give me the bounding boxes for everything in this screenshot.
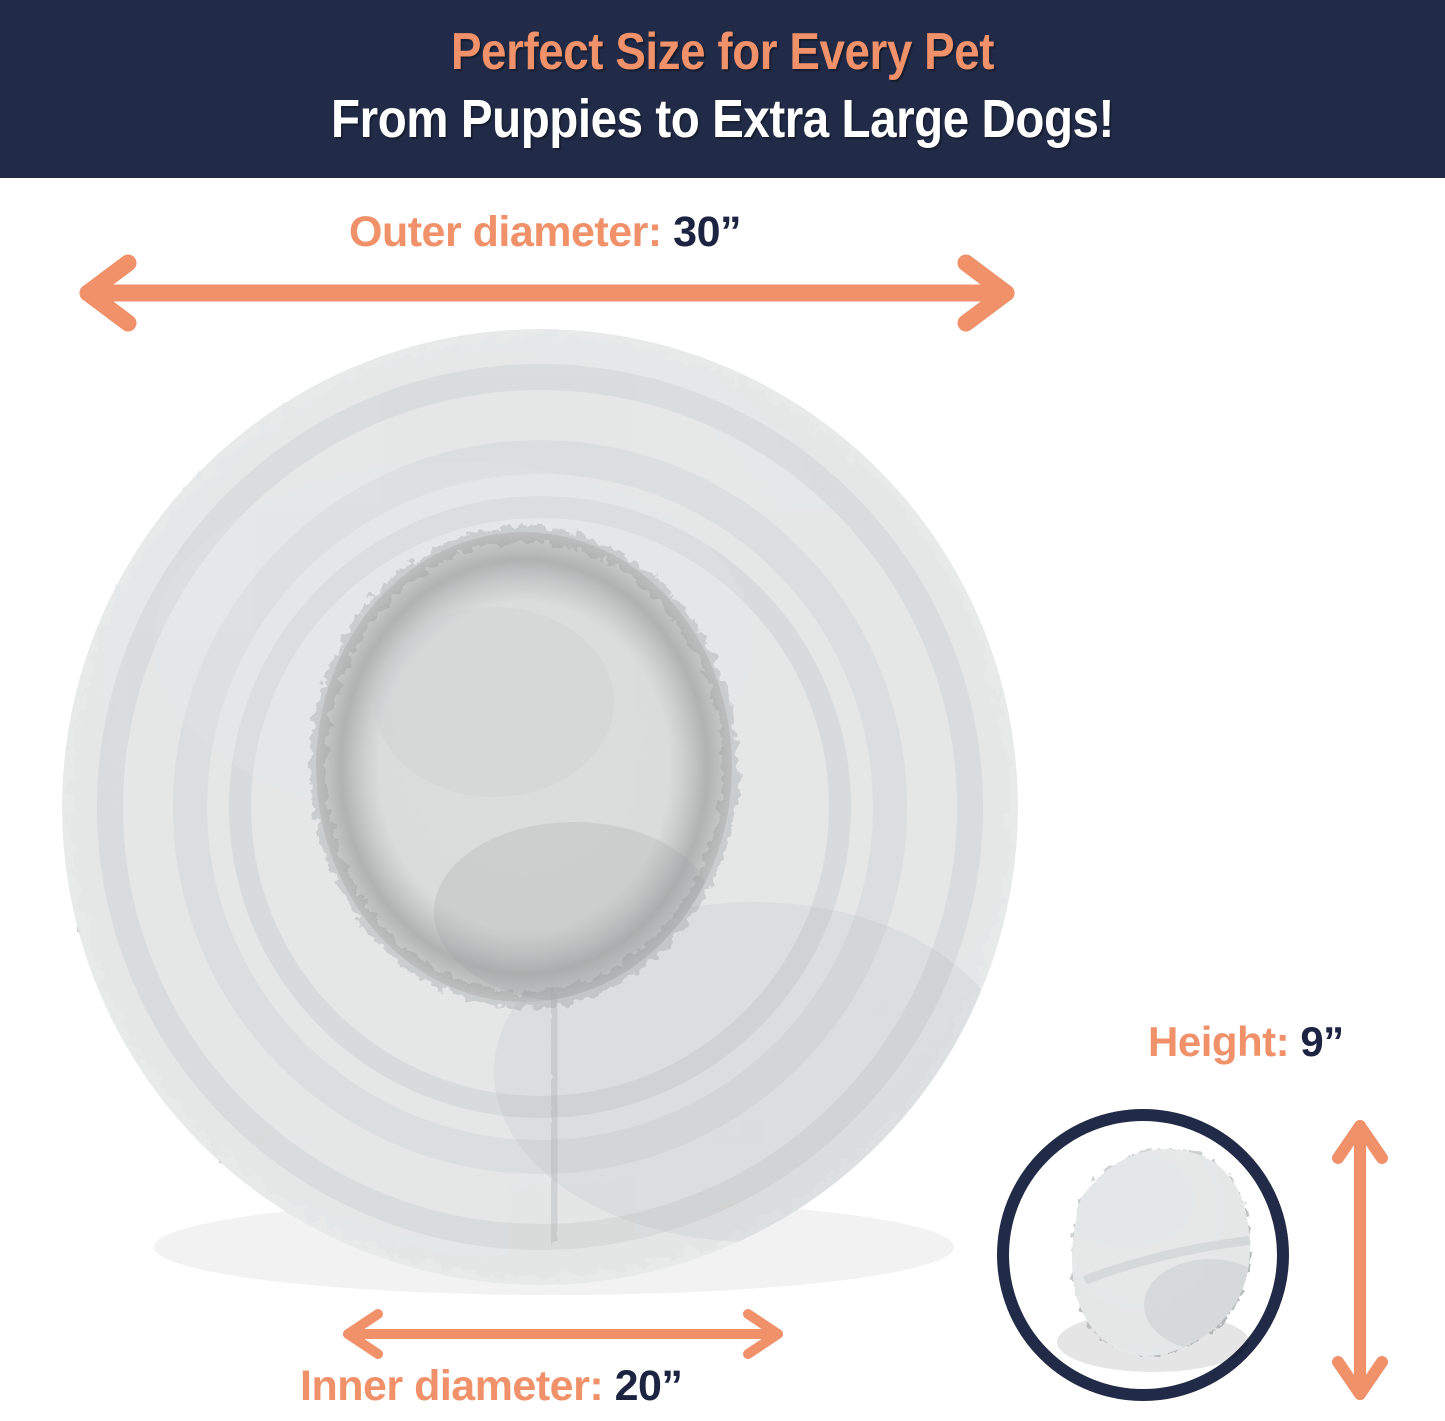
height-value: 9” <box>1300 1018 1343 1065</box>
outer-diameter-label: Outer diameter: <box>349 208 662 256</box>
outer-diameter-value: 30” <box>673 208 741 256</box>
pet-bed-top-view <box>54 312 1026 1302</box>
product-size-infographic: Perfect Size for Every Pet From Puppies … <box>0 0 1445 1421</box>
outer-diameter-callout: Outer diameter: 30” <box>0 208 1090 257</box>
banner-title: Perfect Size for Every Pet <box>87 22 1359 82</box>
inner-diameter-label: Inner diameter: <box>300 1362 603 1410</box>
banner-subtitle: From Puppies to Extra Large Dogs! <box>87 88 1359 150</box>
inner-diameter-value: 20” <box>615 1362 683 1410</box>
inner-diameter-arrow <box>332 1312 794 1356</box>
header-banner: Perfect Size for Every Pet From Puppies … <box>0 0 1445 178</box>
height-label: Height: <box>1148 1018 1289 1065</box>
side-view-inset <box>995 1090 1325 1420</box>
height-arrow <box>1330 1112 1390 1408</box>
inner-diameter-callout: Inner diameter: 20” <box>300 1362 682 1411</box>
height-callout: Height: 9” <box>1148 1018 1344 1066</box>
